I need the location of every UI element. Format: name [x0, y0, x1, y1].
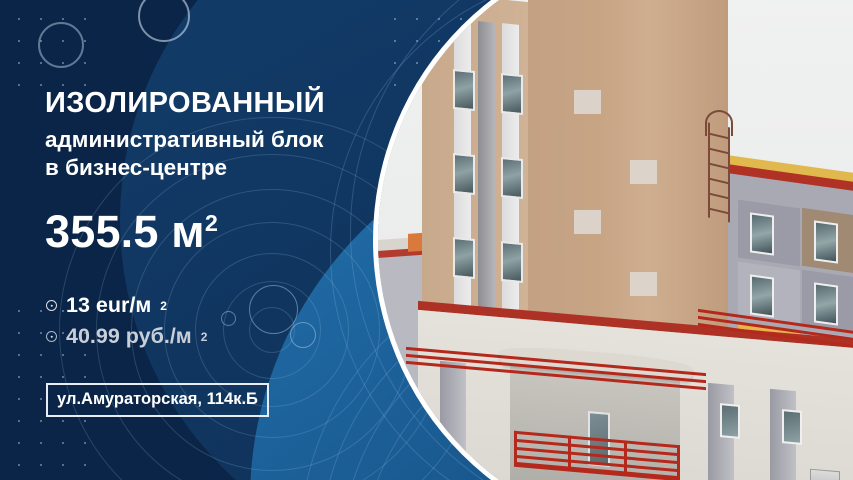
page-title: ИЗОЛИРОВАННЫЙ — [45, 88, 405, 119]
area-value: 355.5 м2 — [45, 206, 218, 258]
photo-ac-unit — [810, 469, 840, 480]
area-exponent: 2 — [205, 210, 218, 236]
photo-window — [501, 73, 523, 115]
address-badge: ул.Амураторская, 114к.Б — [46, 383, 269, 417]
photo-window — [814, 220, 838, 263]
price-rub-exponent: 2 — [201, 330, 208, 344]
photo-window — [814, 282, 838, 325]
photo-office-building — [378, 0, 853, 480]
photo-window — [501, 157, 523, 199]
photo-window — [750, 212, 774, 255]
price-rub-label: 40.99 руб./м — [66, 324, 192, 349]
photo-wall-panel — [630, 160, 657, 184]
price-eur-label: 13 eur/м — [66, 293, 151, 318]
promo-banner: ИЗОЛИРОВАННЫЙ административный блок в би… — [0, 0, 853, 480]
bullet-icon — [46, 331, 57, 342]
photo-pilaster — [440, 361, 466, 480]
price-item-eur: 13 eur/м2 — [46, 290, 207, 321]
subtitle-line-1: административный блок — [45, 126, 405, 154]
photo-window — [501, 241, 523, 283]
photo-wall-panel — [574, 210, 601, 234]
subtitle-line-2: в бизнес-центре — [45, 154, 405, 182]
price-item-rub: 40.99 руб./м2 — [46, 321, 207, 352]
bullet-icon — [46, 300, 57, 311]
photo-wall-panel — [630, 272, 657, 296]
area-number: 355.5 м — [45, 206, 205, 257]
text-content: ИЗОЛИРОВАННЫЙ административный блок в би… — [0, 0, 420, 480]
photo-window — [720, 403, 740, 439]
photo-window — [453, 237, 475, 279]
photo-window — [453, 69, 475, 111]
photo-window — [750, 274, 774, 317]
photo-wall-panel — [574, 90, 601, 114]
photo-roof-ladder — [708, 122, 730, 222]
photo-window — [453, 153, 475, 195]
photo-window — [782, 409, 802, 445]
subtitle: административный блок в бизнес-центре — [45, 126, 405, 182]
price-list: 13 eur/м2 40.99 руб./м2 — [46, 290, 207, 352]
price-eur-exponent: 2 — [160, 299, 167, 313]
